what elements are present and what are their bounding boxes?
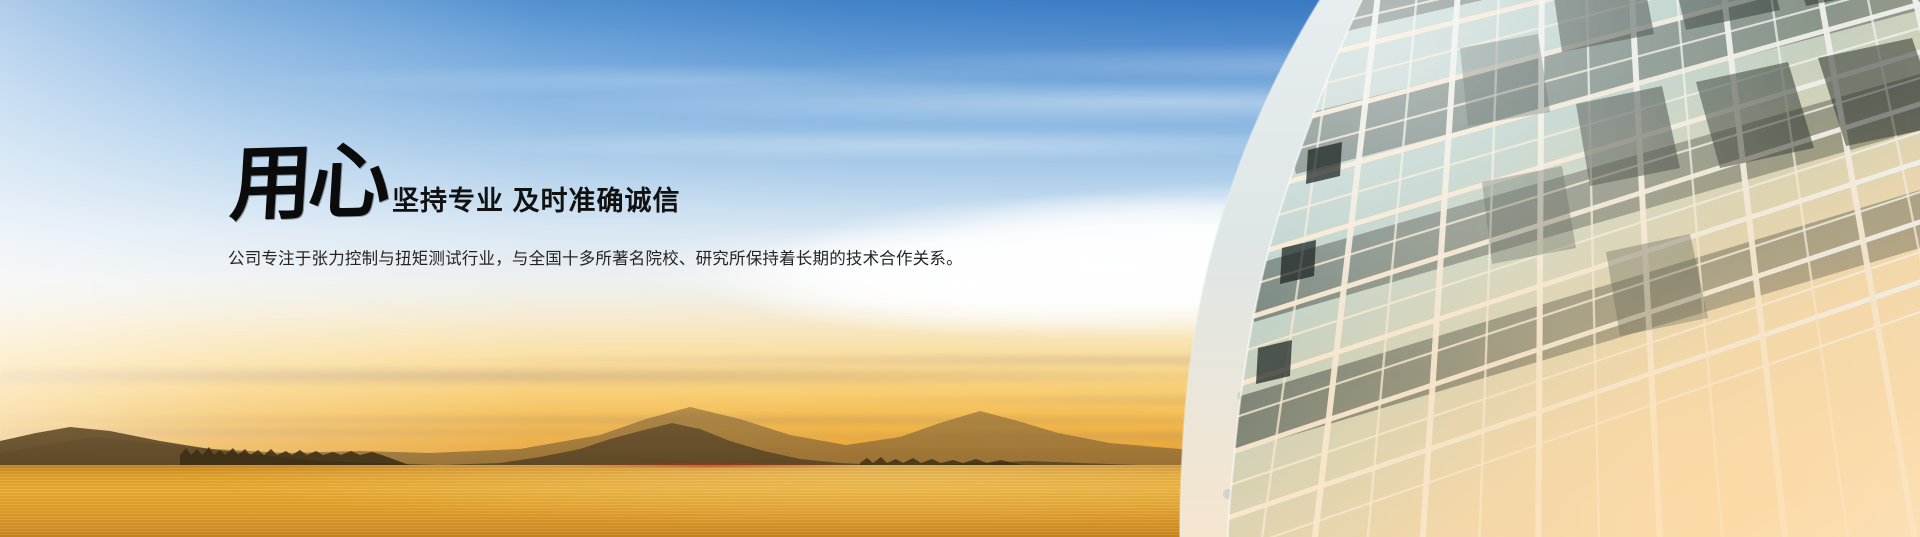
- headline-tagline: 坚持专业 及时准确诚信: [392, 188, 681, 223]
- curved-glass-facade-building: [990, 0, 1920, 537]
- hero-banner: 用心 坚持专业 及时准确诚信 公司专注于张力控制与扭矩测试行业，与全国十多所著名…: [0, 0, 1920, 537]
- banner-subline: 公司专注于张力控制与扭矩测试行业，与全国十多所著名院校、研究所保持着长期的技术合…: [228, 245, 928, 269]
- banner-copy: 用心 坚持专业 及时准确诚信 公司专注于张力控制与扭矩测试行业，与全国十多所著名…: [228, 148, 928, 269]
- headline-calligraphy: 用心: [228, 144, 389, 223]
- water-red-glint: [560, 464, 860, 467]
- headline-row: 用心 坚持专业 及时准确诚信: [228, 148, 928, 223]
